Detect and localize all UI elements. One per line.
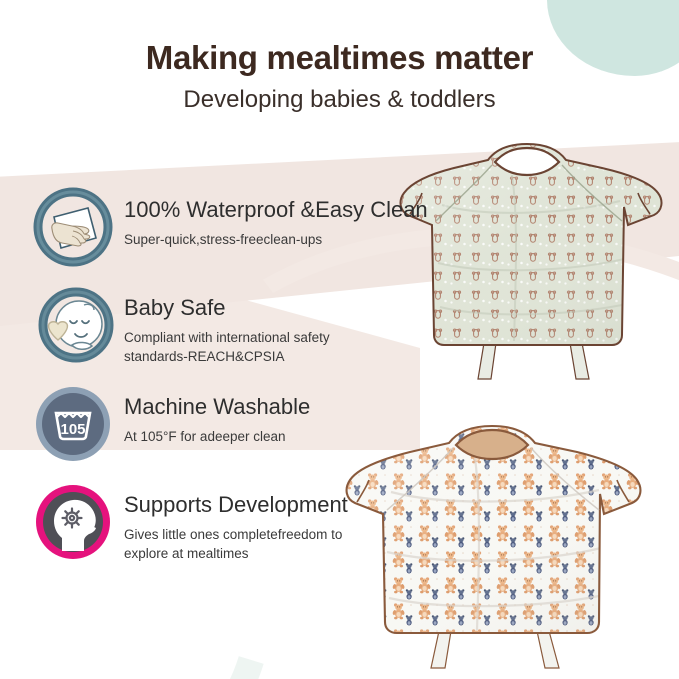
wipe-cloth-icon (32, 186, 114, 268)
baby-face-heart-icon (32, 284, 114, 366)
feature-description: Super-quick,stress-freeclean-ups (124, 230, 374, 249)
feature-item-supports-development: Supports Development Gives little ones c… (32, 481, 452, 564)
feature-item-baby-safe: Baby Safe Compliant with international s… (32, 284, 452, 367)
feature-description: At 105°F for adeeper clean (124, 427, 310, 446)
wash-tub-105-icon: 105 (32, 383, 114, 465)
feature-item-waterproof: 100% Waterproof &Easy Clean Super-quick,… (32, 186, 452, 268)
feature-title: Supports Development (124, 492, 374, 517)
page-subtitle: Developing babies & toddlers (0, 86, 679, 114)
feature-title: Baby Safe (124, 295, 374, 320)
wash-temp-label: 105 (60, 421, 85, 438)
feature-title: 100% Waterproof &Easy Clean (124, 197, 428, 222)
infographic-canvas: Making mealtimes matter Developing babie… (0, 0, 679, 679)
feature-text-machine-washable: Machine Washable At 105°F for adeeper cl… (124, 383, 310, 446)
feature-description: Compliant with international safety stan… (124, 328, 374, 366)
feature-text-supports-development: Supports Development Gives little ones c… (124, 481, 374, 564)
feature-title: Machine Washable (124, 394, 310, 419)
header-block: Making mealtimes matter Developing babie… (0, 40, 679, 114)
feature-list: 100% Waterproof &Easy Clean Super-quick,… (32, 186, 452, 579)
feature-text-baby-safe: Baby Safe Compliant with international s… (124, 284, 374, 367)
feature-text-waterproof: 100% Waterproof &Easy Clean Super-quick,… (124, 186, 428, 249)
feature-description: Gives little ones completefreedom to exp… (124, 525, 374, 563)
page-title: Making mealtimes matter (0, 40, 679, 77)
head-gear-icon (32, 481, 114, 563)
feature-item-machine-washable: 105 Machine Washable At 105°F for adeepe… (32, 383, 452, 465)
